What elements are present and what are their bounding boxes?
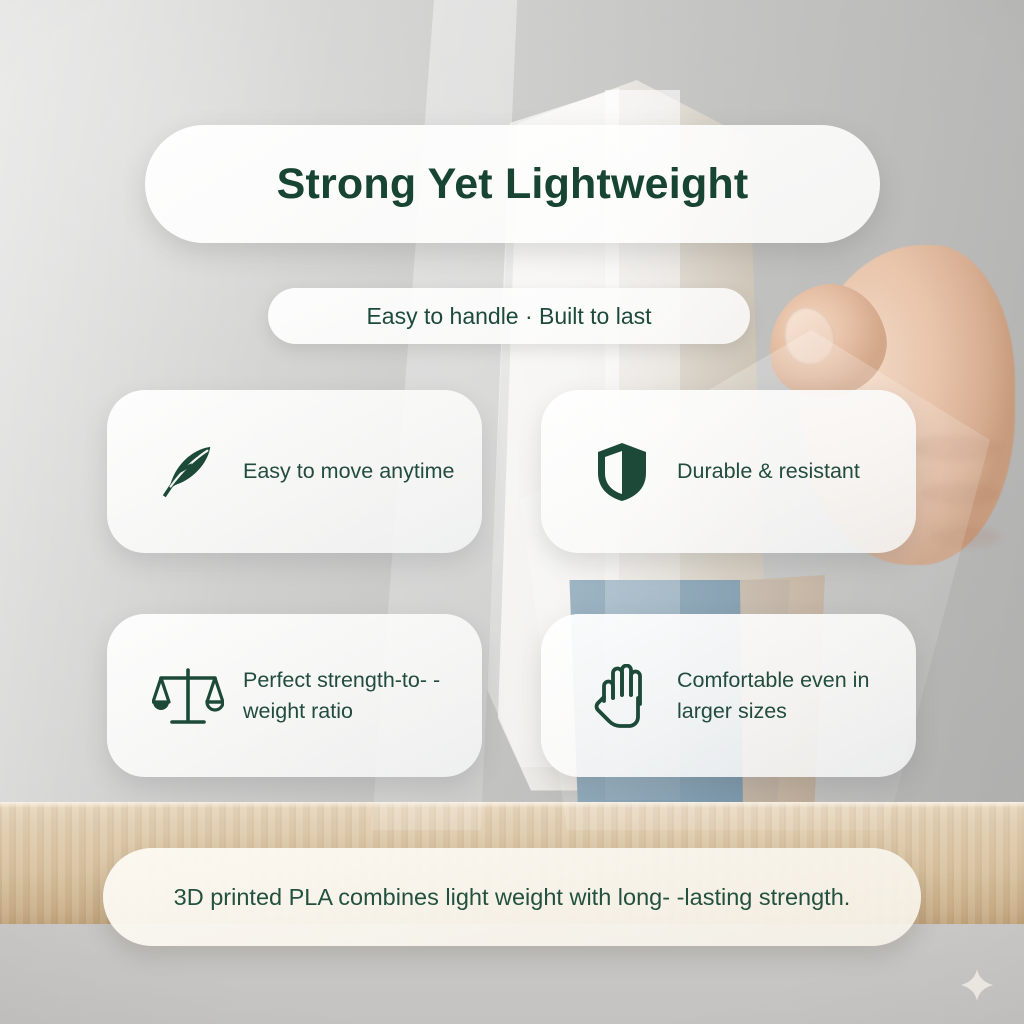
- shield-icon: [585, 440, 659, 504]
- feature-card-comfortable[interactable]: Comfortable even in larger sizes: [541, 614, 916, 777]
- footer-caption: 3D printed PLA combines light weight wit…: [174, 880, 851, 914]
- footer-caption-pill: 3D printed PLA combines light weight wit…: [103, 848, 921, 946]
- feature-card-durable[interactable]: Durable & resistant: [541, 390, 916, 553]
- feature-label: Comfortable even in larger sizes: [677, 665, 892, 726]
- feature-card-easy-to-move[interactable]: Easy to move anytime: [107, 390, 482, 553]
- feature-label: Durable & resistant: [677, 456, 860, 487]
- feature-label: Perfect strength-to- -weight ratio: [243, 665, 458, 726]
- sparkle-icon: [960, 968, 994, 1002]
- product-feature-graphic: Strong Yet Lightweight Easy to handle · …: [0, 0, 1024, 1024]
- feather-icon: [151, 441, 225, 503]
- feature-card-strength-to-weight[interactable]: Perfect strength-to- -weight ratio: [107, 614, 482, 777]
- hand-icon: [585, 664, 659, 728]
- balance-scale-icon: [151, 664, 225, 728]
- feature-label: Easy to move anytime: [243, 456, 455, 487]
